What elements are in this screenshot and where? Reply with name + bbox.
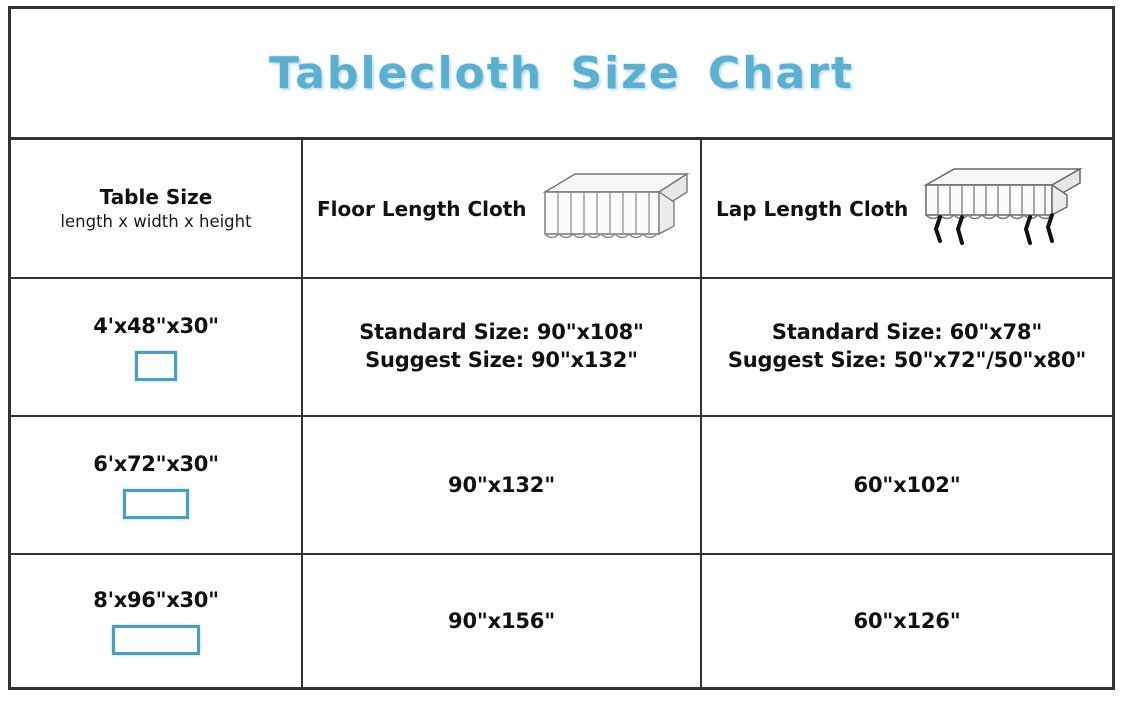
table-size-heading-main: Table Size xyxy=(60,185,251,210)
table-size-value: 6'x72"x30" xyxy=(93,452,218,476)
header-cell-floor-length: Floor Length Cloth xyxy=(303,140,702,277)
cell-table-size: 8'x96"x30" xyxy=(11,555,303,687)
title-band: Tablecloth Size Chart xyxy=(11,9,1112,140)
lap-length-label: Lap Length Cloth xyxy=(716,197,908,221)
floor-standard-size: Standard Size: 90"x108" xyxy=(359,319,644,347)
lap-length-values: Standard Size: 60"x78" Suggest Size: 50"… xyxy=(728,319,1086,374)
floor-length-header: Floor Length Cloth xyxy=(311,164,692,253)
table-row: 4'x48"x30" Standard Size: 90"x108" Sugge… xyxy=(11,279,1112,417)
table-size-heading: Table Size length x width x height xyxy=(60,185,251,233)
chart-grid: Table Size length x width x height Floor… xyxy=(11,140,1112,687)
floor-length-values: Standard Size: 90"x108" Suggest Size: 90… xyxy=(359,319,644,374)
table-row: 6'x72"x30" 90"x132" 60"x102" xyxy=(11,417,1112,555)
table-header-row: Table Size length x width x height Floor… xyxy=(11,140,1112,279)
floor-size-value: 90"x156" xyxy=(448,609,555,633)
cell-floor-length: Standard Size: 90"x108" Suggest Size: 90… xyxy=(303,279,702,415)
header-cell-table-size: Table Size length x width x height xyxy=(11,140,303,277)
lap-standard-size: Standard Size: 60"x78" xyxy=(728,319,1086,347)
cell-floor-length: 90"x132" xyxy=(303,417,702,553)
tablecloth-size-chart: Tablecloth Size Chart Table Size length … xyxy=(8,6,1115,690)
cell-lap-length: 60"x102" xyxy=(702,417,1112,553)
floor-size-value: 90"x132" xyxy=(448,473,555,497)
page-title: Tablecloth Size Chart xyxy=(269,48,854,99)
floor-suggest-size: Suggest Size: 90"x132" xyxy=(359,347,644,375)
table-size-value: 4'x48"x30" xyxy=(93,314,218,338)
header-cell-lap-length: Lap Length Cloth xyxy=(702,140,1112,277)
lap-size-value: 60"x102" xyxy=(854,473,961,497)
cell-lap-length: Standard Size: 60"x78" Suggest Size: 50"… xyxy=(702,279,1112,415)
lap-length-header: Lap Length Cloth xyxy=(710,159,1104,258)
cell-table-size: 6'x72"x30" xyxy=(11,417,303,553)
table-shape-icon xyxy=(135,351,177,381)
table-shape-icon xyxy=(123,489,189,519)
cell-table-size: 4'x48"x30" xyxy=(11,279,303,415)
lap-size-value: 60"x126" xyxy=(854,609,961,633)
floor-length-table-icon xyxy=(531,164,691,253)
table-size-heading-sub: length x width x height xyxy=(60,212,251,233)
cell-lap-length: 60"x126" xyxy=(702,555,1112,687)
floor-length-label: Floor Length Cloth xyxy=(317,197,527,221)
lap-suggest-size: Suggest Size: 50"x72"/50"x80" xyxy=(728,347,1086,375)
table-row: 8'x96"x30" 90"x156" 60"x126" xyxy=(11,555,1112,687)
cell-floor-length: 90"x156" xyxy=(303,555,702,687)
lap-length-table-icon xyxy=(912,159,1087,258)
table-size-value: 8'x96"x30" xyxy=(93,588,218,612)
table-shape-icon xyxy=(112,625,200,655)
